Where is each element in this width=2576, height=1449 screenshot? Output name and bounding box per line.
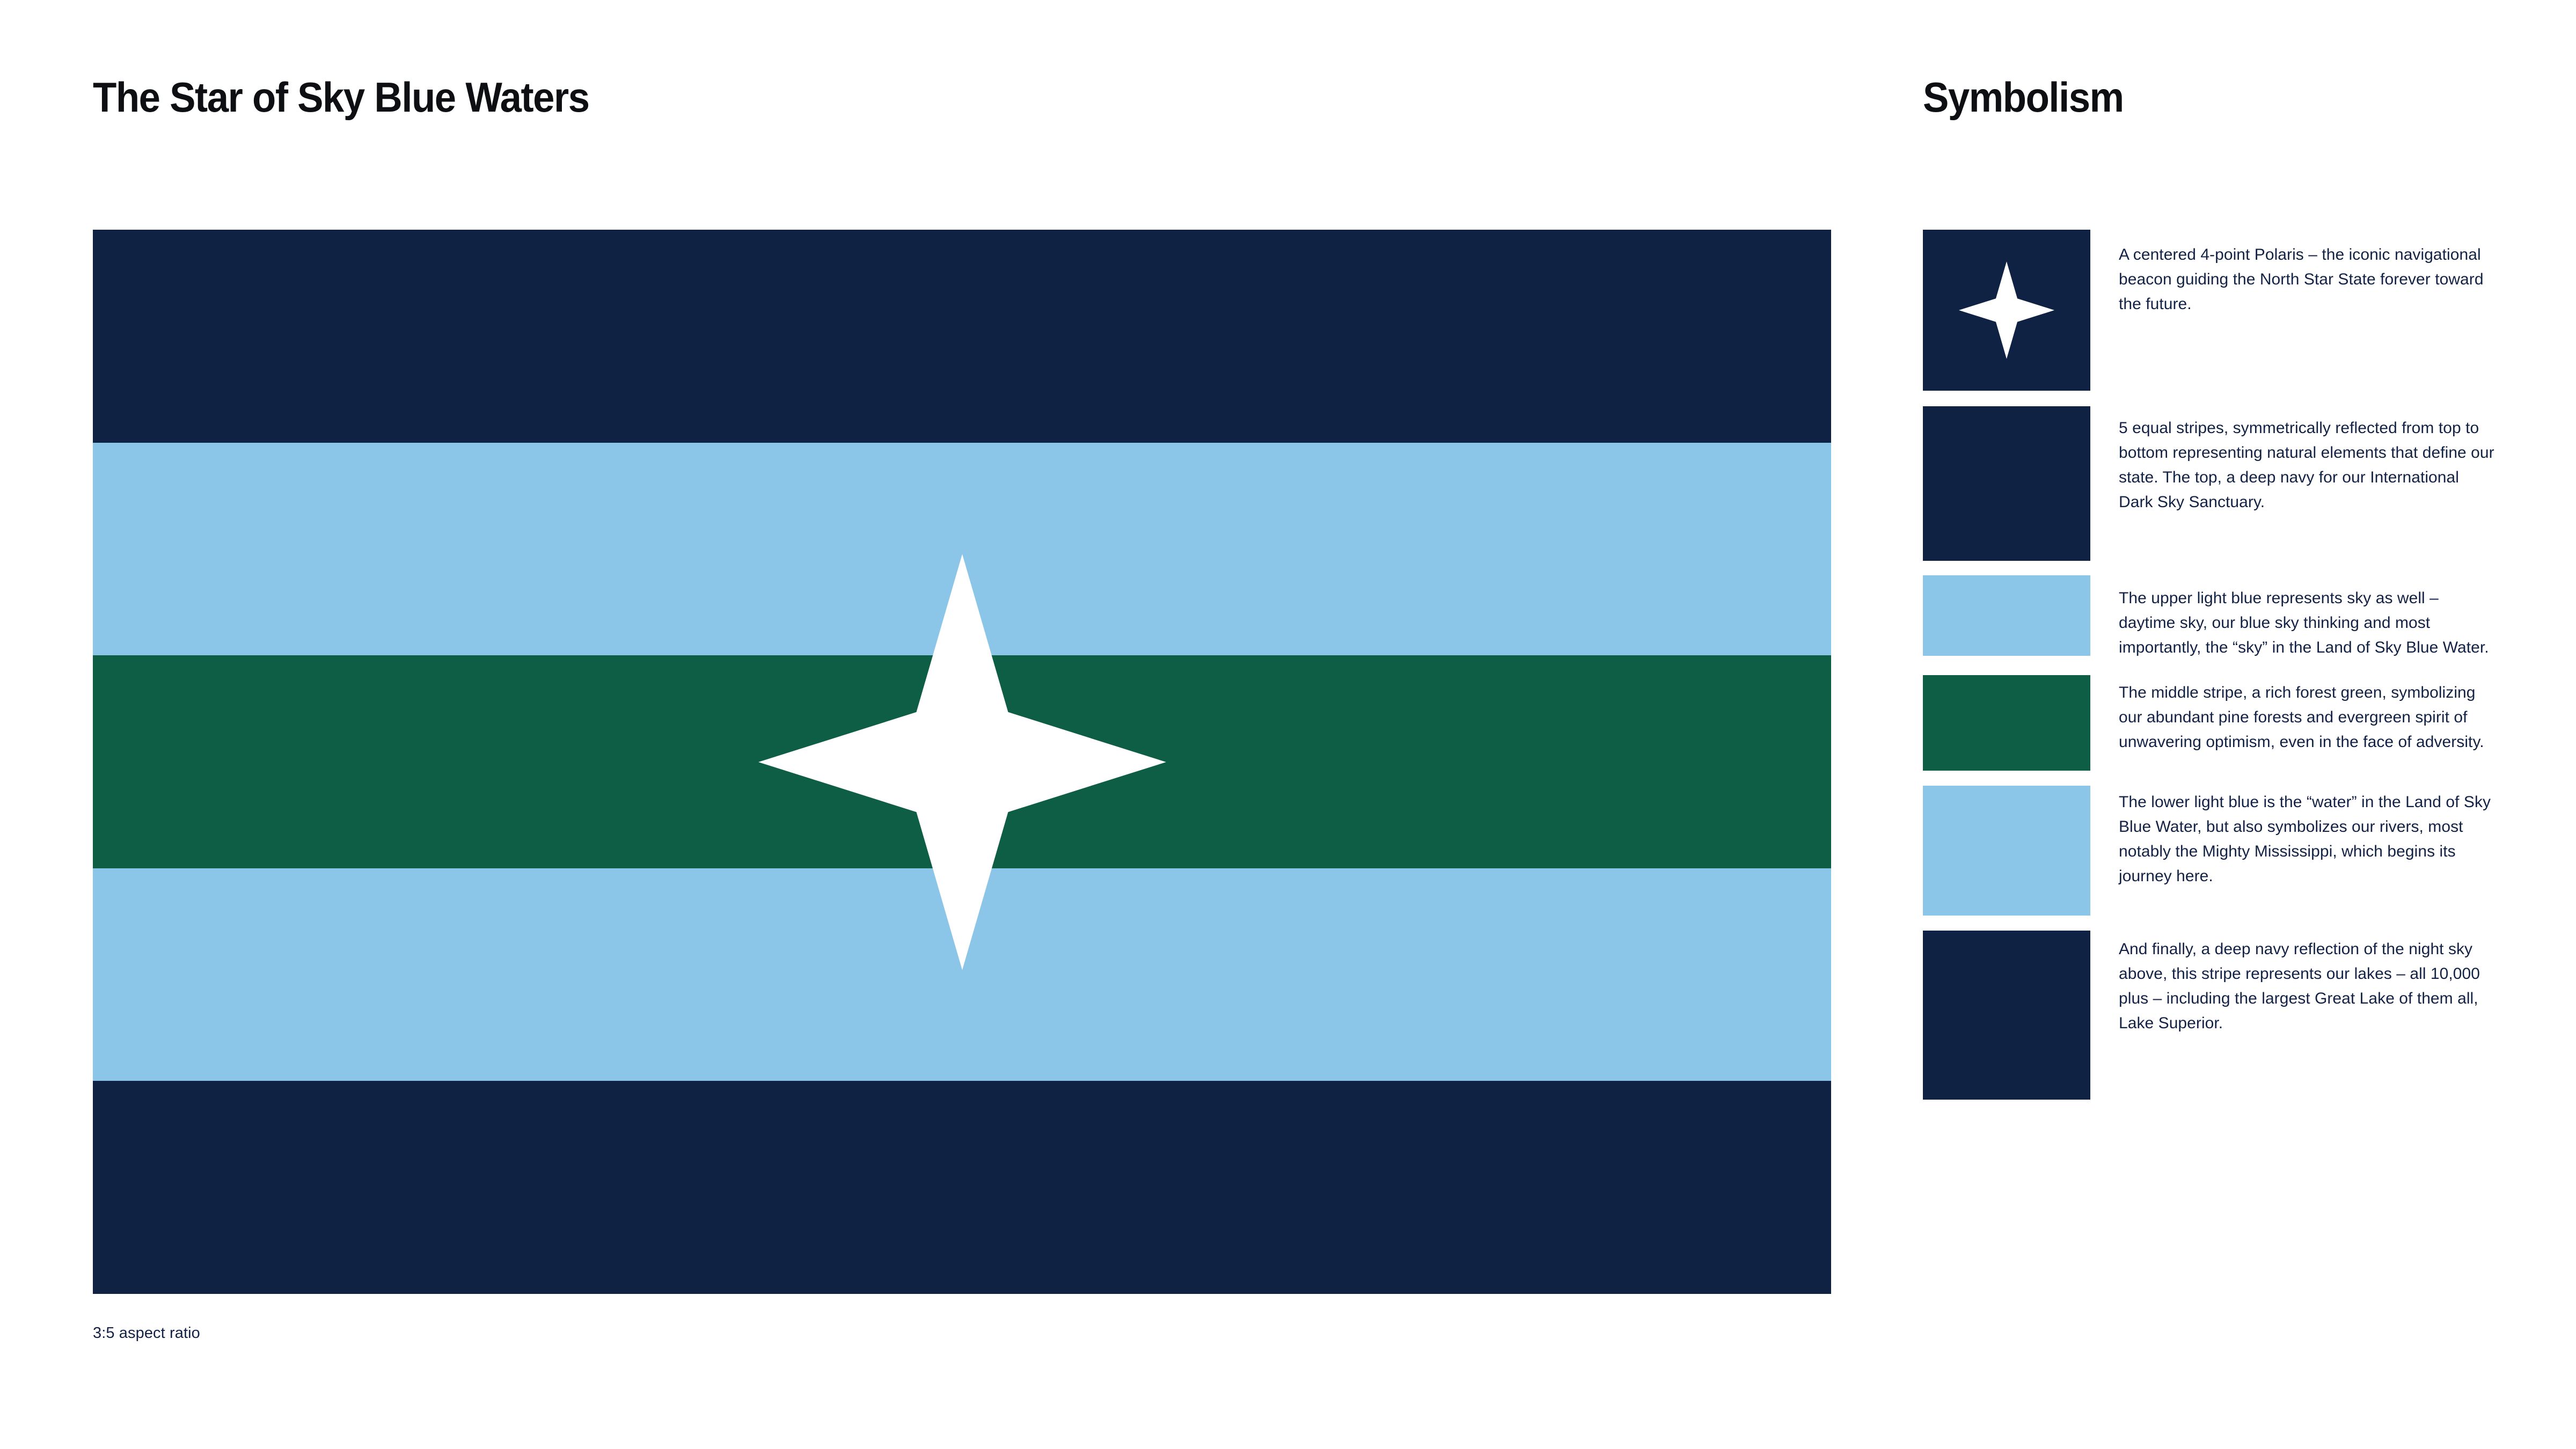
symbolism-description: 5 equal stripes, symmetrically reflected…	[2090, 406, 2497, 515]
flag-artwork	[93, 230, 1831, 1294]
flag-stripe-top-navy	[93, 230, 1831, 443]
page-title: The Star of Sky Blue Waters	[93, 76, 589, 118]
symbolism-heading: Symbolism	[1923, 76, 2124, 118]
symbolism-swatch-green	[1923, 675, 2090, 771]
symbolism-list: A centered 4-point Polaris – the iconic …	[1923, 230, 2497, 1100]
symbolism-description: The upper light blue represents sky as w…	[2090, 575, 2497, 660]
symbolism-item: The upper light blue represents sky as w…	[1923, 575, 2497, 660]
symbolism-item: And finally, a deep navy reflection of t…	[1923, 931, 2497, 1100]
symbolism-description: A centered 4-point Polaris – the iconic …	[2090, 230, 2497, 317]
symbolism-swatch-navy-bottom	[1923, 931, 2090, 1100]
symbolism-description: The lower light blue is the “water” in t…	[2090, 786, 2497, 889]
symbolism-item: The lower light blue is the “water” in t…	[1923, 786, 2497, 916]
symbolism-item: The middle stripe, a rich forest green, …	[1923, 675, 2497, 771]
symbolism-description: The middle stripe, a rich forest green, …	[2090, 675, 2497, 755]
flag-design-page: The Star of Sky Blue Waters 3:5 aspect r…	[0, 0, 2576, 1449]
aspect-ratio-caption: 3:5 aspect ratio	[93, 1324, 200, 1342]
symbolism-item: 5 equal stripes, symmetrically reflected…	[1923, 406, 2497, 561]
four-point-star-icon	[758, 554, 1166, 970]
symbolism-item: A centered 4-point Polaris – the iconic …	[1923, 230, 2497, 391]
symbolism-swatch-lower-light-blue	[1923, 786, 2090, 916]
four-point-star-icon	[1959, 261, 2054, 359]
symbolism-description: And finally, a deep navy reflection of t…	[2090, 931, 2497, 1036]
symbolism-swatch-upper-light-blue	[1923, 575, 2090, 656]
symbolism-swatch-navy-top	[1923, 406, 2090, 561]
symbolism-swatch-star	[1923, 230, 2090, 391]
flag-stripe-bottom-navy	[93, 1081, 1831, 1294]
